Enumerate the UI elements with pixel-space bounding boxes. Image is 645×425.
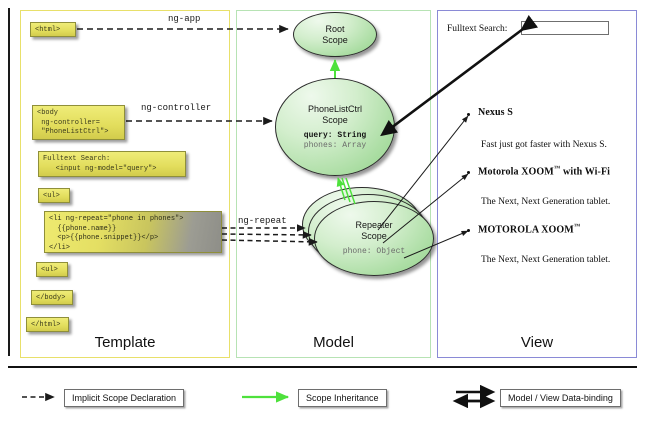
view-bullet-1 xyxy=(467,113,470,116)
template-box-body-close[interactable]: </body> xyxy=(31,290,73,305)
view-item-snippet-1: Fast just got faster with Nexus S. xyxy=(481,140,607,150)
scope-root[interactable]: RootScope xyxy=(293,12,377,57)
scope-phonelistctrl[interactable]: PhoneListCtrlScope query: String phones:… xyxy=(275,78,395,176)
scope-root-title: RootScope xyxy=(322,24,348,46)
view-item-snippet-3: The Next, Next Generation tablet. xyxy=(481,255,610,265)
legend-divider xyxy=(8,366,637,368)
view-bullet-2 xyxy=(467,171,470,174)
view-item-snippet-2: The Next, Next Generation tablet. xyxy=(481,197,610,207)
template-box-fulltext-search[interactable]: Fulltext Search: <input ng-model="query"… xyxy=(38,151,186,177)
view-item-name-3: MOTOROLA XOOM™ xyxy=(478,223,580,235)
template-box-body-open[interactable]: <body ng-controller= "PhoneListCtrl"> xyxy=(32,105,125,140)
prop-phone: phone: Object xyxy=(343,247,405,257)
diagram-root: Template <html> <body ng-controller= "Ph… xyxy=(0,0,645,425)
panel-template-title: Template xyxy=(21,334,229,351)
edge-label-ng-repeat: ng-repeat xyxy=(238,216,287,226)
scope-repeater[interactable]: RepeaterScope phone: Object xyxy=(314,201,434,276)
template-box-html-open[interactable]: <html> xyxy=(30,22,76,37)
view-search-label: Fulltext Search: xyxy=(447,24,507,34)
edge-label-ng-controller: ng-controller xyxy=(141,103,211,113)
view-bullet-3 xyxy=(467,229,470,232)
left-vertical-rule xyxy=(8,8,10,356)
panel-view: View xyxy=(437,10,637,358)
panel-template: Template xyxy=(20,10,230,358)
panel-model-title: Model xyxy=(237,334,430,351)
prop-phones: phones: Array xyxy=(304,141,366,151)
prop-query: query: String xyxy=(304,131,366,141)
edge-label-ng-app: ng-app xyxy=(168,14,200,24)
scope-phonelistctrl-props: query: String phones: Array xyxy=(304,131,366,151)
view-item-name-2: Motorola XOOM™ with Wi-Fi xyxy=(478,165,610,177)
legend-glyph-databinding xyxy=(456,392,492,401)
panel-model: Model xyxy=(236,10,431,358)
template-box-li-repeat[interactable]: <li ng-repeat="phone in phones"> {{phone… xyxy=(44,211,222,253)
template-box-ul-open[interactable]: <ul> xyxy=(38,188,70,203)
template-box-ul-close[interactable]: <ul> xyxy=(36,262,68,277)
template-box-html-close[interactable]: </html> xyxy=(26,317,69,332)
scope-repeater-title: RepeaterScope xyxy=(355,220,392,242)
scope-phonelistctrl-title: PhoneListCtrlScope xyxy=(308,104,362,126)
legend-item-scope-inheritance: Scope Inheritance xyxy=(298,389,387,407)
legend-item-implicit-scope-declaration: Implicit Scope Declaration xyxy=(64,389,184,407)
view-item-name-1: Nexus S xyxy=(478,107,513,118)
scope-repeater-props: phone: Object xyxy=(343,247,405,257)
legend-item-model-view-data-binding: Model / View Data-binding xyxy=(500,389,621,407)
search-input[interactable] xyxy=(521,21,609,35)
panel-view-title: View xyxy=(438,334,636,351)
